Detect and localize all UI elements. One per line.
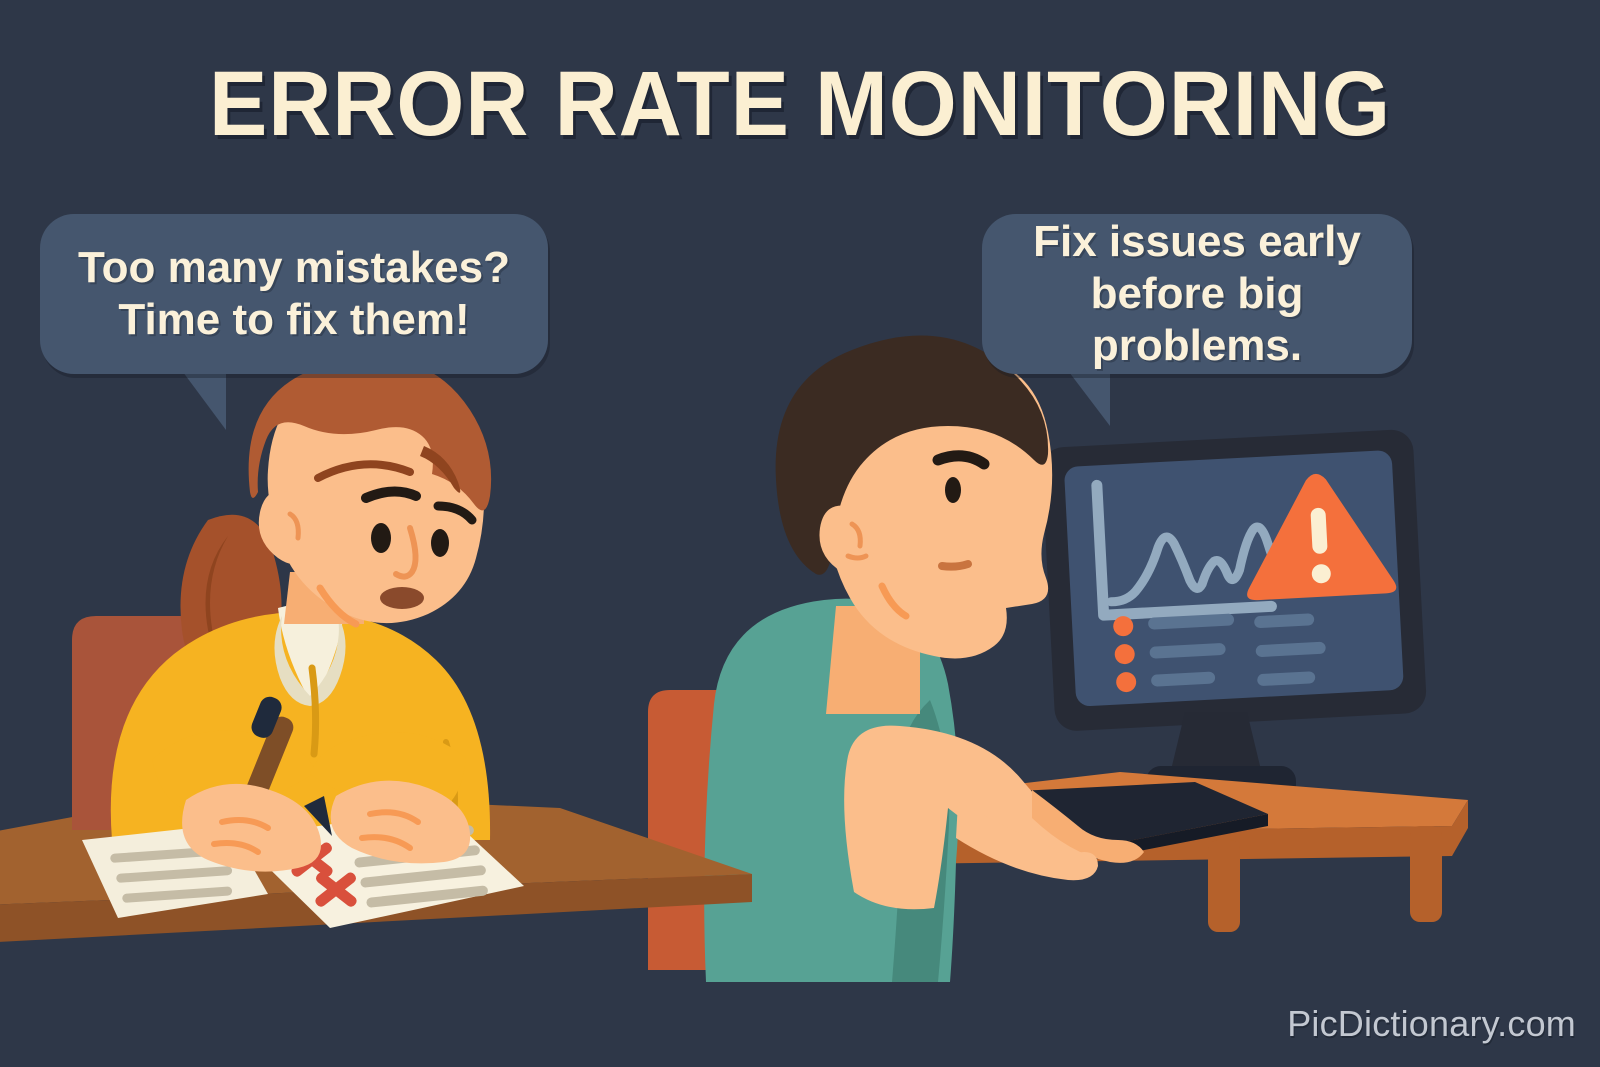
speech-bubble-right-text: Fix issues early before big problems. xyxy=(982,216,1412,372)
illustration xyxy=(0,0,1600,1067)
speech-bubble-tail-right xyxy=(1040,368,1110,426)
speech-bubble-left-text: Too many mistakes? Time to fix them! xyxy=(78,242,510,346)
exclamation-bar xyxy=(1310,507,1327,554)
ear-detail-2 xyxy=(848,556,866,558)
speech-bubble-right-line2: before big problems. xyxy=(982,268,1412,372)
man-eye xyxy=(945,477,961,503)
monitor-neck xyxy=(1171,712,1261,770)
speech-bubble-right-line1: Fix issues early xyxy=(982,216,1412,268)
poster-canvas: ERROR RATE MONITORING Too many mistakes?… xyxy=(0,0,1600,1067)
page-title: ERROR RATE MONITORING xyxy=(40,58,1560,150)
watermark: PicDictionary.com xyxy=(1287,1003,1576,1045)
speech-bubble-left-line2: Time to fix them! xyxy=(78,294,510,346)
cardigan-seam xyxy=(312,668,316,754)
speech-bubble-tail-left xyxy=(150,368,226,430)
man-mouth xyxy=(942,564,968,567)
woman-eye-left xyxy=(371,523,391,553)
speech-bubble-left-line1: Too many mistakes? xyxy=(78,242,510,294)
woman-mouth xyxy=(380,587,424,609)
speech-bubble-right: Fix issues early before big problems. xyxy=(982,214,1412,374)
speech-bubble-left: Too many mistakes? Time to fix them! xyxy=(40,214,548,374)
desk-leg xyxy=(1208,840,1240,932)
woman-eye-right xyxy=(431,529,449,557)
desk-leg xyxy=(1410,826,1442,922)
